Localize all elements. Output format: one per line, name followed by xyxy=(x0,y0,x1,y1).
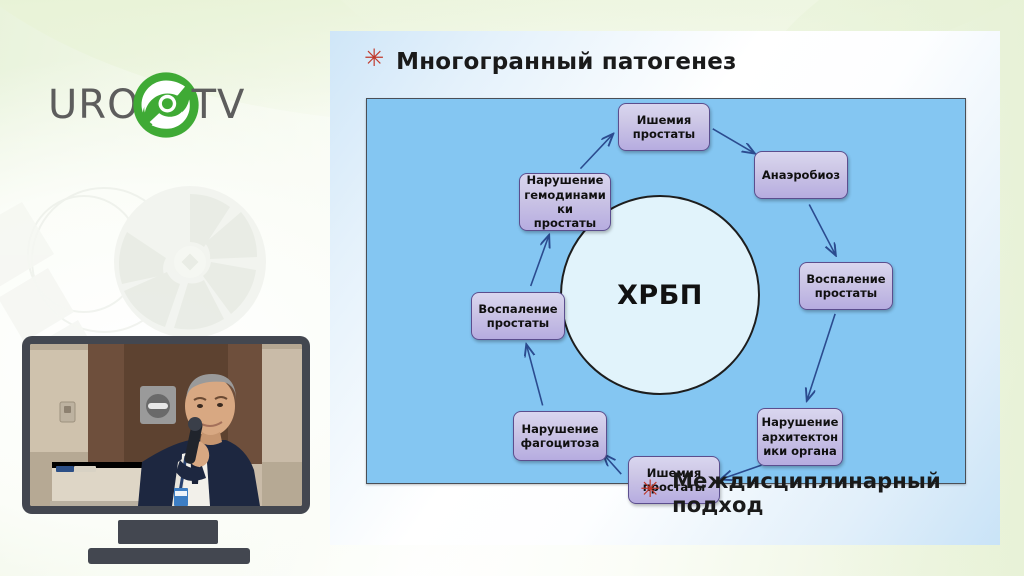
diagram-node-gemodinamika[interactable]: Нарушение гемодинами ки простаты xyxy=(519,173,611,231)
node-label: Нарушение архитектон ики органа xyxy=(762,415,839,458)
diagram-node-arhitektonika[interactable]: Нарушение архитектон ики органа xyxy=(757,408,843,466)
node-label: Ишемия простаты xyxy=(633,113,695,142)
logo-text-tv: TV xyxy=(192,85,246,125)
monitor-stand-base xyxy=(88,548,250,564)
slide-heading: ✳ Многогранный патогенез xyxy=(364,49,980,75)
slide-footer-text: Междисциплинарный подход xyxy=(672,469,1000,517)
pathogenesis-cycle-diagram: ХРБП Нарушение гемодинами ки простаты Иш… xyxy=(366,98,966,484)
slide-heading-text: Многогранный патогенез xyxy=(396,49,737,75)
desktop-monitor-icon xyxy=(22,336,310,514)
video-frame-image xyxy=(30,344,302,506)
bullet-asterisk-icon: ✳ xyxy=(640,477,660,501)
node-label: Воспаление простаты xyxy=(806,272,885,301)
diagram-node-fagocitoz[interactable]: Нарушение фагоцитоза xyxy=(513,411,607,461)
diagram-node-vospalenie-right[interactable]: Воспаление простаты xyxy=(799,262,893,310)
video-screen[interactable] xyxy=(30,344,302,506)
brand-logo[interactable]: URO TV xyxy=(48,66,245,144)
node-label: Воспаление простаты xyxy=(478,302,557,331)
diagram-center-label: ХРБП xyxy=(617,280,703,311)
logo-text-uro: URO xyxy=(48,85,140,125)
node-label: Анаэробиоз xyxy=(762,168,840,182)
urotv-swirl-icon xyxy=(132,71,200,139)
slide-footer: ✳ Междисциплинарный подход xyxy=(640,469,1000,517)
bullet-asterisk-icon: ✳ xyxy=(364,46,384,70)
diagram-node-anaerobioz[interactable]: Анаэробиоз xyxy=(754,151,848,199)
presentation-slide: ✳ Многогранный патогенез xyxy=(330,31,1000,545)
monitor-stand-neck xyxy=(118,520,218,544)
node-label: Нарушение фагоцитоза xyxy=(521,422,600,451)
diagram-node-ishemia-top[interactable]: Ишемия простаты xyxy=(618,103,710,151)
diagram-node-vospalenie-left[interactable]: Воспаление простаты xyxy=(471,292,565,340)
speaker-video[interactable] xyxy=(22,336,310,566)
node-label: Нарушение гемодинами ки простаты xyxy=(524,173,606,231)
